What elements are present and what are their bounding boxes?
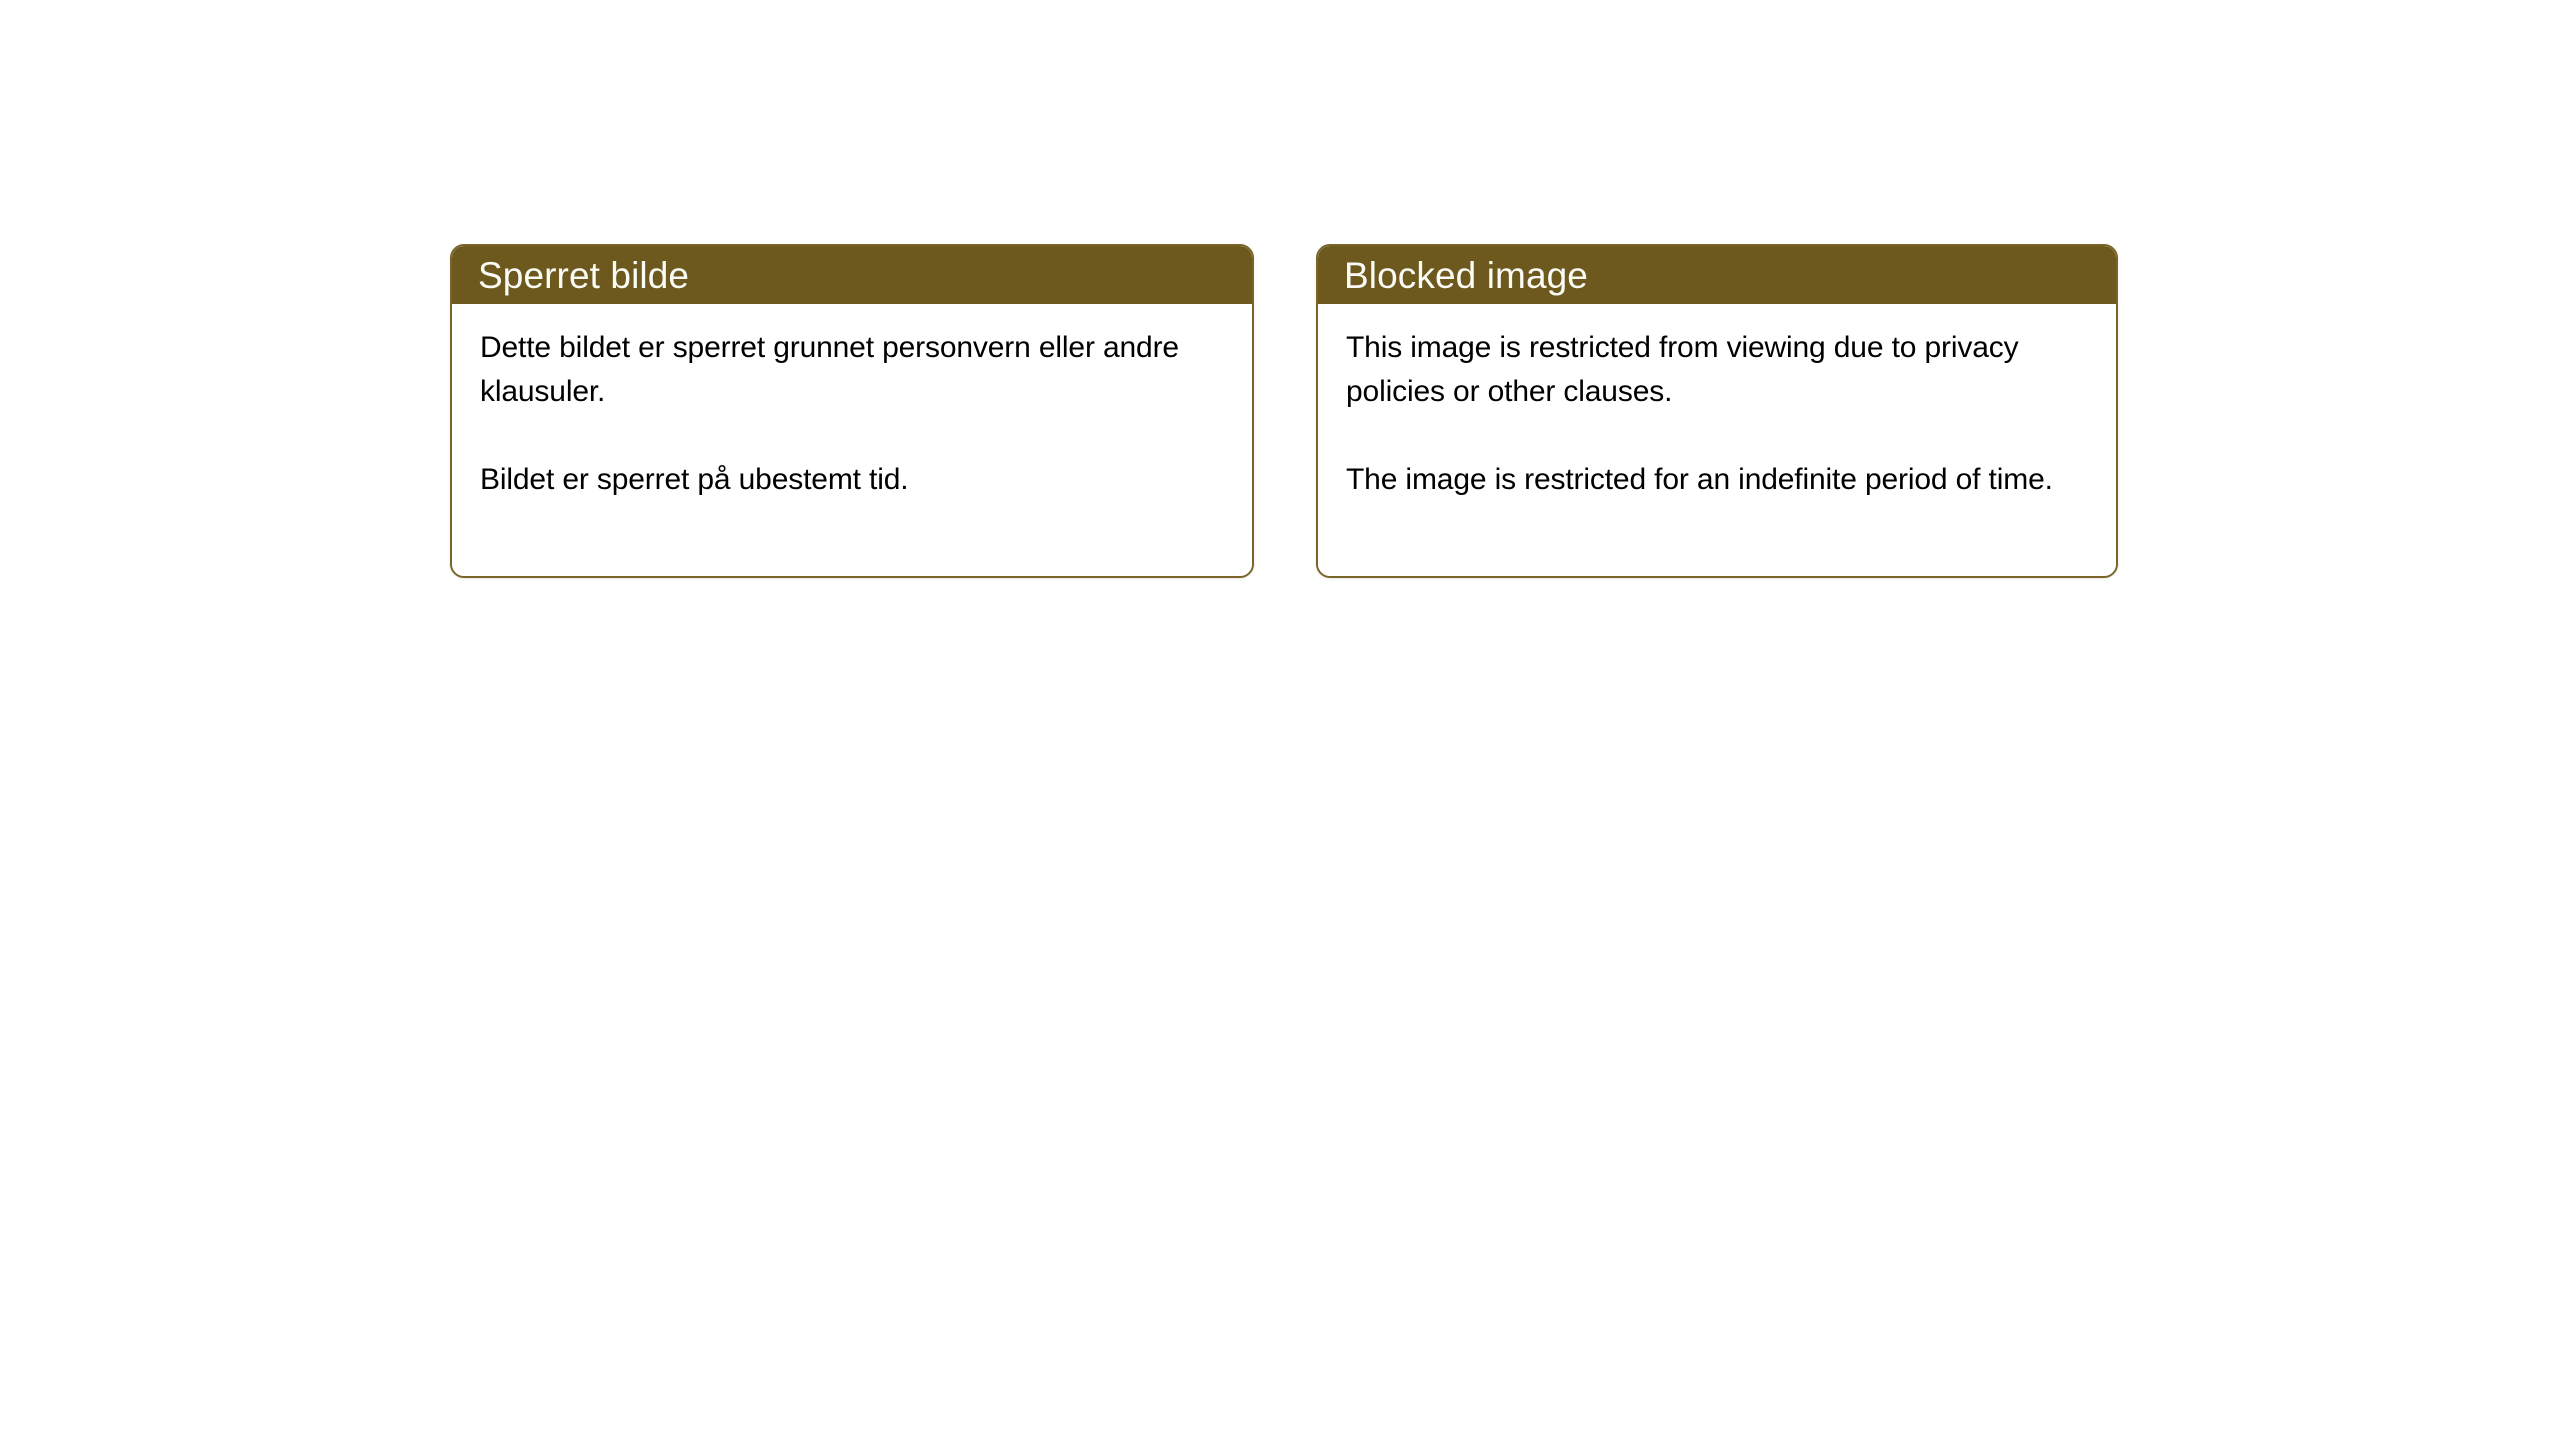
card-body-english: This image is restricted from viewing du… — [1318, 304, 2116, 576]
card-paragraph-primary-norwegian: Dette bildet er sperret grunnet personve… — [480, 326, 1180, 414]
card-paragraph-secondary-english: The image is restricted for an indefinit… — [1346, 458, 2058, 502]
card-header-english: Blocked image — [1318, 246, 2116, 304]
card-header-norwegian: Sperret bilde — [452, 246, 1252, 304]
card-paragraph-primary-english: This image is restricted from viewing du… — [1346, 326, 2058, 414]
blocked-image-card-english: Blocked image This image is restricted f… — [1316, 244, 2118, 578]
notice-card-group: Sperret bilde Dette bildet er sperret gr… — [450, 244, 2118, 578]
card-body-norwegian: Dette bildet er sperret grunnet personve… — [452, 304, 1252, 576]
blocked-image-card-norwegian: Sperret bilde Dette bildet er sperret gr… — [450, 244, 1254, 578]
page-root: Sperret bilde Dette bildet er sperret gr… — [0, 0, 2560, 1440]
card-paragraph-secondary-norwegian: Bildet er sperret på ubestemt tid. — [480, 458, 1180, 502]
card-title-norwegian: Sperret bilde — [478, 257, 689, 294]
card-title-english: Blocked image — [1344, 257, 1588, 294]
